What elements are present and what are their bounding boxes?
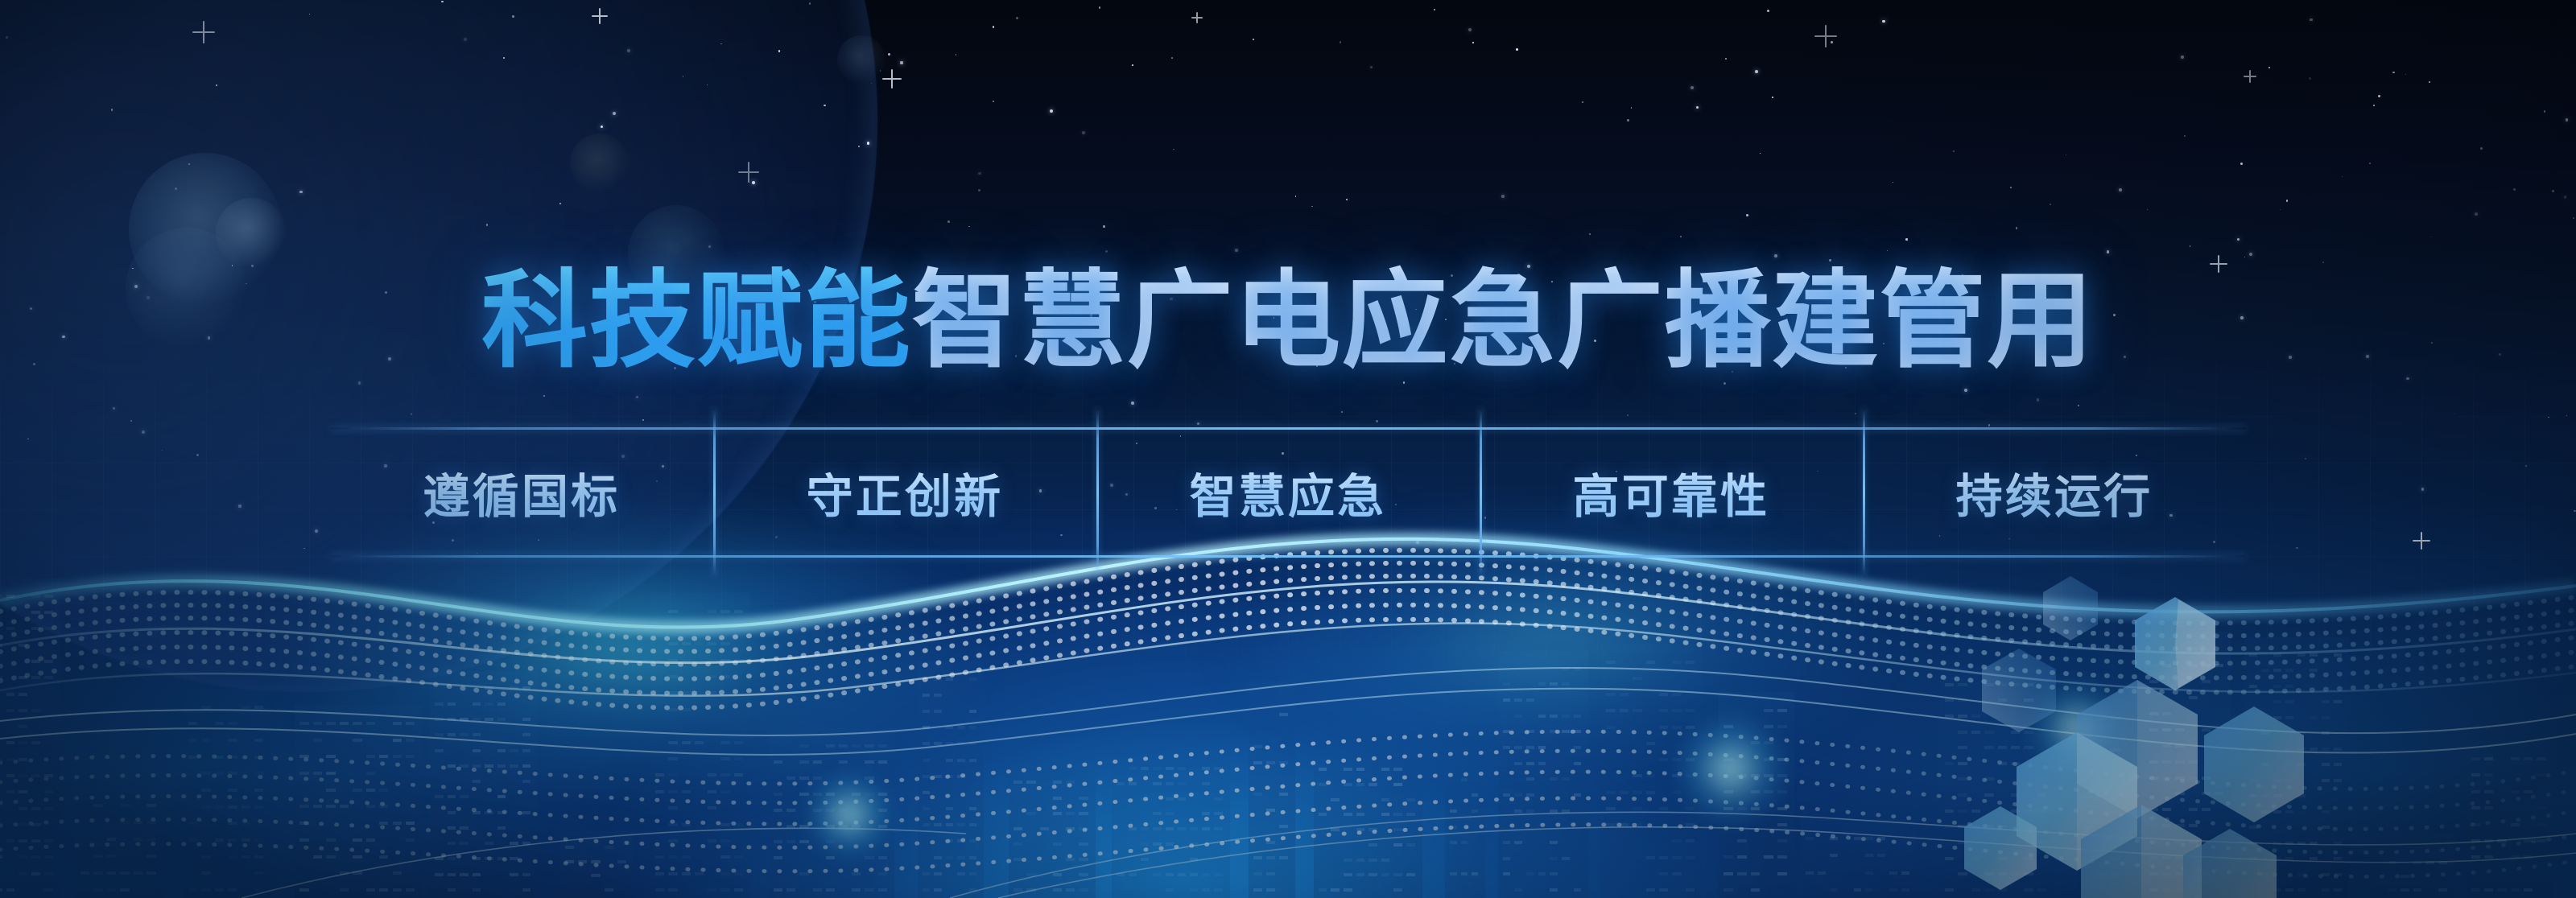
feature-label: 高可靠性 [1573,459,1770,526]
banner-content: 科技赋能智慧广电应急广播建管用 遵循国标 守正创新 智慧应急 高可靠性 持续运行 [0,0,2576,898]
feature-item-2[interactable]: 智慧应急 [1096,427,1480,558]
feature-label: 守正创新 [807,459,1004,526]
title-light-segment: 智慧广电应急广播建管用 [911,262,2094,380]
feature-item-1[interactable]: 守正创新 [713,427,1096,558]
feature-item-3[interactable]: 高可靠性 [1480,427,1863,558]
feature-label: 遵循国标 [423,459,621,526]
feature-item-4[interactable]: 持续运行 [1863,427,2246,558]
feature-label: 持续运行 [1956,459,2153,526]
hero-banner: 科技赋能智慧广电应急广播建管用 遵循国标 守正创新 智慧应急 高可靠性 持续运行 [0,0,2576,898]
feature-strip: 遵循国标 守正创新 智慧应急 高可靠性 持续运行 [330,427,2246,558]
feature-list: 遵循国标 守正创新 智慧应急 高可靠性 持续运行 [330,427,2246,558]
page-title: 科技赋能智慧广电应急广播建管用 [481,256,2095,385]
feature-item-0[interactable]: 遵循国标 [330,427,713,558]
feature-label: 智慧应急 [1190,459,1387,526]
title-accent-segment: 科技赋能 [481,262,911,380]
